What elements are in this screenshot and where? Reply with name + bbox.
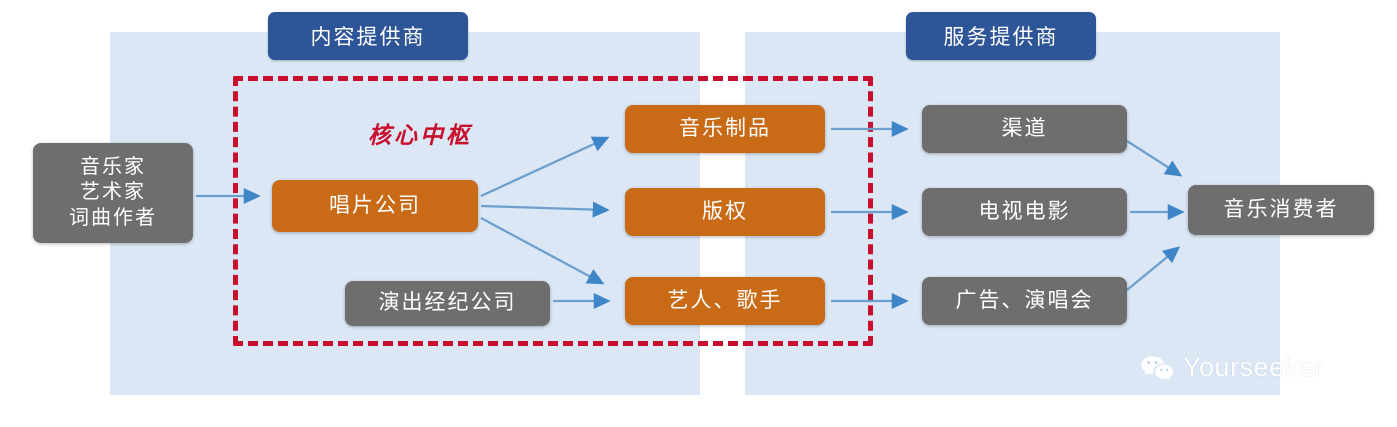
core-hub-label: 核心中枢 bbox=[330, 116, 510, 146]
node-creators-line2: 艺术家 bbox=[80, 180, 146, 206]
node-copyright: 版权 bbox=[625, 188, 825, 236]
node-channel: 渠道 bbox=[922, 105, 1127, 153]
node-performance-agency: 演出经纪公司 bbox=[345, 281, 550, 326]
node-creators-line1: 音乐家 bbox=[80, 155, 146, 181]
node-creators-line3: 词曲作者 bbox=[69, 206, 157, 232]
node-artist-singer: 艺人、歌手 bbox=[625, 277, 825, 325]
watermark: Yourseeker bbox=[1140, 352, 1324, 383]
watermark-text: Yourseeker bbox=[1183, 352, 1324, 383]
node-creators: 音乐家 艺术家 词曲作者 bbox=[33, 143, 193, 243]
diagram-canvas: 内容提供商 服务提供商 音乐家 艺术家 词曲作者 核心中枢 唱片公司 演出经纪公… bbox=[0, 0, 1397, 427]
wechat-icon bbox=[1140, 354, 1174, 382]
node-tv-film: 电视电影 bbox=[922, 188, 1127, 236]
node-music-consumer: 音乐消费者 bbox=[1188, 185, 1374, 235]
node-record-company: 唱片公司 bbox=[272, 180, 478, 232]
node-music-product: 音乐制品 bbox=[625, 105, 825, 153]
section-header-content-provider: 内容提供商 bbox=[268, 12, 468, 60]
section-header-service-provider: 服务提供商 bbox=[906, 12, 1096, 60]
node-ad-concert: 广告、演唱会 bbox=[922, 277, 1127, 325]
